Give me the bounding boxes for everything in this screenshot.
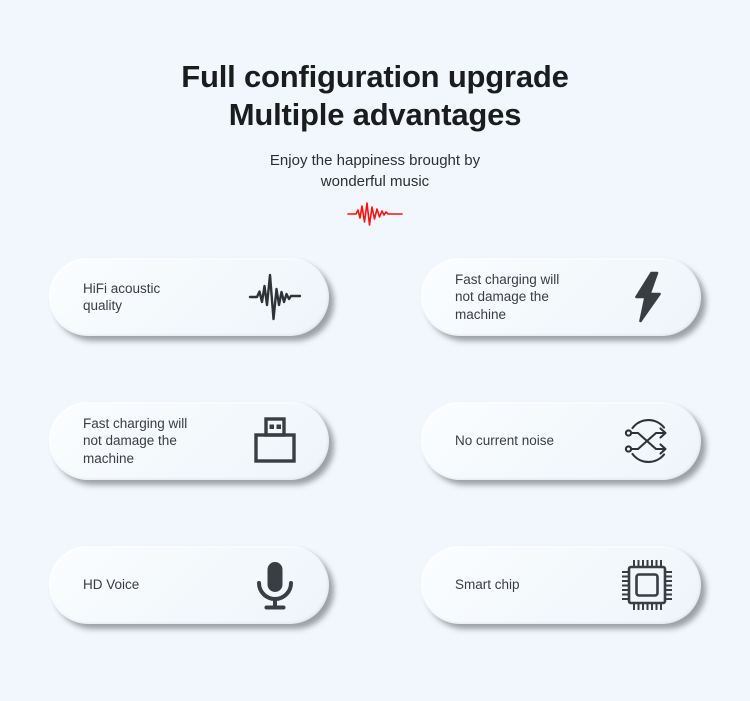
feature-card-body[interactable]: HD Voice [49,546,329,624]
feature-card-label: HD Voice [83,576,139,594]
page-subtitle: Enjoy the happiness brought by wonderful… [0,150,750,192]
feature-card[interactable]: Smart chip [421,546,701,624]
red-waveform-icon [347,201,403,227]
microphone-icon [247,557,303,613]
feature-card-body[interactable]: Fast charging will not damage the machin… [421,258,701,336]
usb-drive-icon [247,413,303,469]
feature-card-label: Fast charging will not damage the machin… [83,415,187,468]
cpu-chip-icon [619,557,675,613]
page-subtitle-line-2: wonderful music [0,171,750,192]
lightning-bolt-icon [619,269,675,325]
page-title: Full configuration upgrade Multiple adva… [0,58,750,134]
header: Full configuration upgrade Multiple adva… [0,0,750,227]
feature-card[interactable]: Fast charging will not damage the machin… [49,402,329,480]
promo-page: Full configuration upgrade Multiple adva… [0,0,750,701]
feature-card-label: HiFi acoustic quality [83,280,160,315]
feature-card-label: No current noise [455,432,554,450]
feature-card-body[interactable]: Smart chip [421,546,701,624]
page-title-line-2: Multiple advantages [0,96,750,134]
page-title-line-1: Full configuration upgrade [0,58,750,96]
waveform-icon [247,269,303,325]
shuffle-arrows-icon [619,413,675,469]
feature-card-label: Fast charging will not damage the machin… [455,271,559,324]
feature-card-grid: HiFi acoustic quality Fast charging will… [0,258,750,624]
feature-card-body[interactable]: HiFi acoustic quality [49,258,329,336]
page-subtitle-line-1: Enjoy the happiness brought by [0,150,750,171]
feature-card[interactable]: HD Voice [49,546,329,624]
feature-card[interactable]: Fast charging will not damage the machin… [421,258,701,336]
feature-card-label: Smart chip [455,576,520,594]
feature-card-body[interactable]: Fast charging will not damage the machin… [49,402,329,480]
feature-card[interactable]: No current noise [421,402,701,480]
feature-card-body[interactable]: No current noise [421,402,701,480]
feature-card[interactable]: HiFi acoustic quality [49,258,329,336]
